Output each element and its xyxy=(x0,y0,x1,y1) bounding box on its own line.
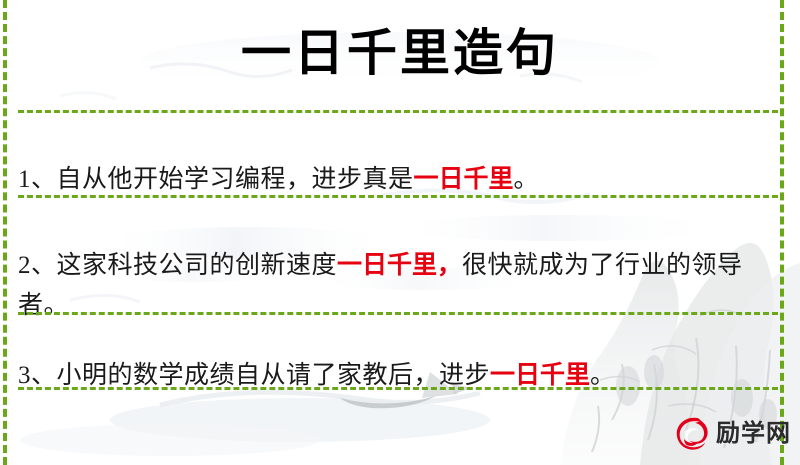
red-swirl-flame-icon xyxy=(672,414,710,452)
divider-line-4 xyxy=(18,387,778,390)
page-title: 一日千里造句 xyxy=(0,22,800,84)
document-page: 一日千里造句 1、自从他开始学习编程，进步真是一日千里。 2、这家科技公司的创新… xyxy=(0,0,800,465)
sentence-2-index: 2、 xyxy=(18,252,57,279)
sentence-3-index: 3、 xyxy=(18,362,57,389)
sentence-1-idiom-highlight: 一日千里 xyxy=(414,164,514,193)
sentence-1-index: 1、 xyxy=(18,166,57,193)
site-watermark-label: 励学网 xyxy=(716,420,791,446)
sentence-item-1: 1、自从他开始学习编程，进步真是一日千里。 xyxy=(18,159,774,200)
content-area: 一日千里造句 1、自从他开始学习编程，进步真是一日千里。 2、这家科技公司的创新… xyxy=(0,0,800,465)
left-dashed-rail xyxy=(3,0,7,465)
sentence-2-text-before: 这家科技公司的创新速度 xyxy=(57,252,338,279)
sentence-3-idiom-highlight: 一日千里 xyxy=(490,360,590,389)
site-watermark-logo: 励学网 xyxy=(672,414,791,452)
right-dashed-rail xyxy=(780,0,784,465)
divider-line-3 xyxy=(18,312,778,315)
sentence-1-text-after: 。 xyxy=(514,166,540,193)
sentence-1-text-before: 自从他开始学习编程，进步真是 xyxy=(57,166,414,193)
sentence-3-text-before: 小明的数学成绩自从请了家教后，进步 xyxy=(57,362,491,389)
divider-line-2 xyxy=(18,195,778,198)
sentence-3-text-after: 。 xyxy=(590,362,616,389)
divider-line-1 xyxy=(18,110,778,113)
sentence-2-idiom-highlight: 一日千里， xyxy=(337,250,462,279)
